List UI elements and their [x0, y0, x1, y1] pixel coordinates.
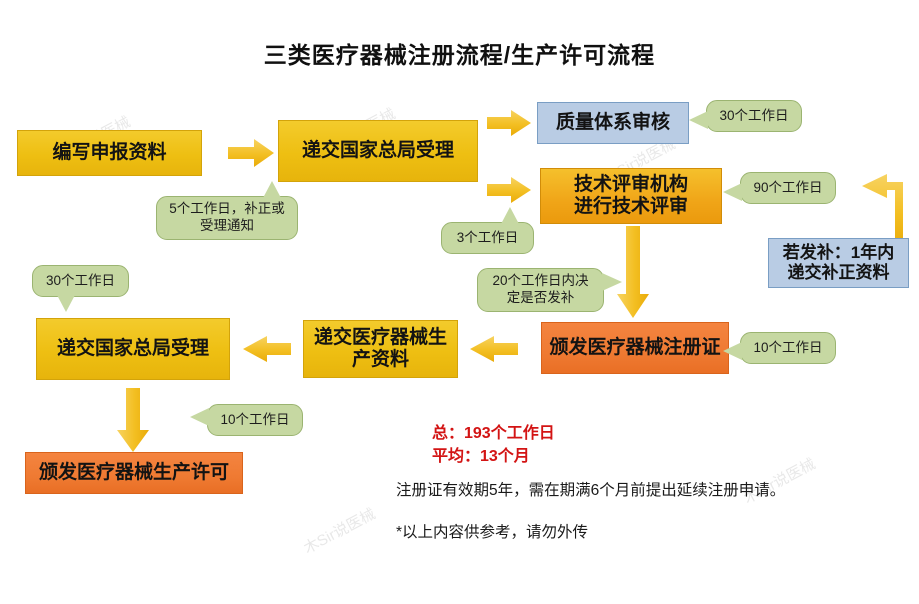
box-label: 质量体系审核 [556, 112, 670, 134]
box-label: 递交国家总局受理 [302, 140, 454, 162]
watermark: 木Sir说医械 [300, 503, 379, 558]
box-label: 递交国家总局受理 [57, 338, 209, 360]
callout-tail-icon [689, 111, 708, 129]
callout-20-days: 20个工作日内决 定是否发补 [477, 268, 604, 312]
box-supplement-note[interactable]: 若发补：1年内 递交补正资料 [768, 238, 909, 288]
box-label: 递交医疗器械生 产资料 [314, 327, 447, 372]
callout-label: 3个工作日 [457, 230, 519, 247]
arrow-production-to-submit [243, 336, 291, 362]
box-label: 技术评审机构 进行技术评审 [574, 174, 688, 219]
box-prepare-materials[interactable]: 编写申报资料 [17, 130, 202, 176]
arrow-submit-to-technical [487, 177, 531, 203]
arrow-cert-to-production [470, 336, 518, 362]
arrow-technical-to-cert [617, 226, 649, 318]
arrow-supplement-loop [840, 168, 908, 246]
callout-tail-icon [263, 181, 281, 198]
callout-5-days: 5个工作日，补正或 受理通知 [156, 196, 298, 240]
arrow-submit-to-license [117, 388, 149, 452]
box-label: 颁发医疗器械注册证 [549, 337, 720, 359]
box-technical-review[interactable]: 技术评审机构 进行技术评审 [540, 168, 722, 224]
callout-label: 30个工作日 [46, 273, 115, 290]
callout-label: 20个工作日内决 定是否发补 [492, 273, 588, 307]
box-label: 若发补：1年内 递交补正资料 [783, 243, 894, 283]
box-label: 颁发医疗器械生产许可 [39, 462, 229, 484]
callout-tail-icon [602, 273, 622, 291]
callout-label: 10个工作日 [753, 340, 822, 357]
box-submit-production-materials[interactable]: 递交医疗器械生 产资料 [303, 320, 458, 378]
callout-label: 30个工作日 [719, 108, 788, 125]
callout-label: 10个工作日 [220, 412, 289, 429]
callout-10-days-cert: 10个工作日 [740, 332, 836, 364]
page-title: 三类医疗器械注册流程/生产许可流程 [0, 36, 919, 70]
box-issue-production-license[interactable]: 颁发医疗器械生产许可 [25, 452, 243, 494]
callout-tail-icon [190, 408, 209, 426]
callout-label: 5个工作日，补正或 受理通知 [169, 201, 285, 235]
callout-90-days: 90个工作日 [740, 172, 836, 204]
callout-3-days: 3个工作日 [441, 222, 534, 254]
callout-30-days-submit: 30个工作日 [32, 265, 129, 297]
arrow-prepare-to-submit [228, 139, 274, 167]
summary-totals: 总：193个工作日 平均：13个月 [432, 422, 555, 468]
flowchart-canvas: 三类医疗器械注册流程/生产许可流程 木Sir说医械 木Sir说医械 木Sir说医… [0, 0, 919, 604]
callout-30-days-quality: 30个工作日 [706, 100, 802, 132]
box-issue-registration-cert[interactable]: 颁发医疗器械注册证 [541, 322, 729, 374]
disclaimer-note: *以上内容供参考，请勿外传 [396, 522, 588, 544]
arrow-submit-to-quality [487, 110, 531, 136]
callout-tail-icon [723, 342, 742, 360]
callout-tail-icon [723, 183, 742, 201]
callout-tail-icon [501, 207, 519, 224]
callout-label: 90个工作日 [753, 180, 822, 197]
box-label: 编写申报资料 [52, 142, 166, 164]
callout-tail-icon [57, 295, 75, 312]
validity-note: 注册证有效期5年，需在期满6个月前提出延续注册申请。 [396, 480, 785, 502]
box-submit-sfda-bottom[interactable]: 递交国家总局受理 [36, 318, 230, 380]
callout-10-days-license: 10个工作日 [207, 404, 303, 436]
box-quality-system-review[interactable]: 质量体系审核 [537, 102, 689, 144]
box-submit-sfda-top[interactable]: 递交国家总局受理 [278, 120, 478, 182]
